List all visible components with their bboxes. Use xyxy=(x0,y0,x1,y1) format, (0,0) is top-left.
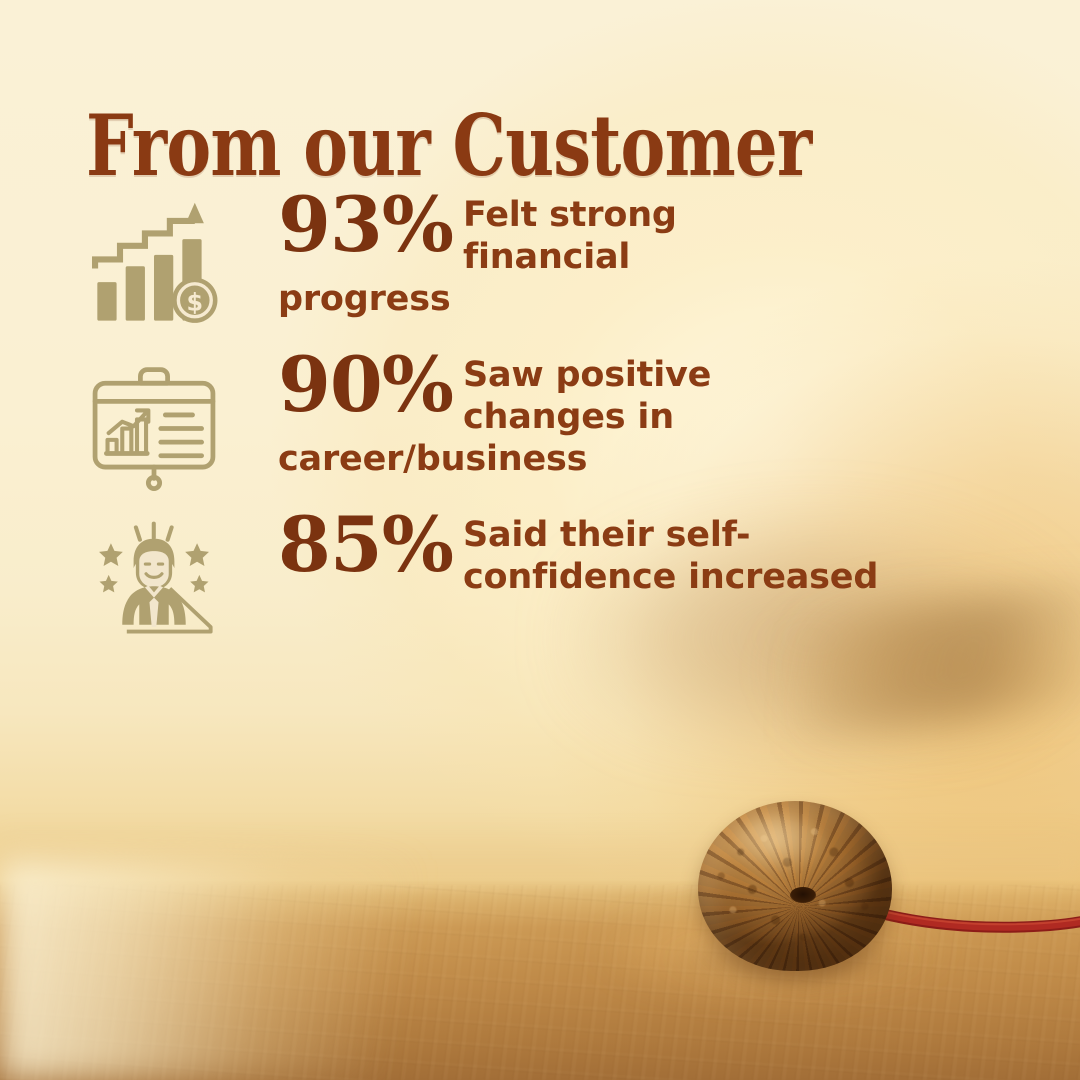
stats-list: $ 93% Felt strong financial progress xyxy=(0,188,1080,668)
stat-text-block: 93% Felt strong financial progress xyxy=(278,188,812,320)
stat-text-block: 85% Said their self-confidence increased xyxy=(278,508,930,598)
poster-content: From our Customer xyxy=(0,0,1080,1080)
bar-chart-growth-dollar-icon: $ xyxy=(86,196,222,332)
stat-text-block: 90% Saw positive changes in career/busin… xyxy=(278,348,884,480)
svg-text:$: $ xyxy=(187,288,204,316)
presentation-board-chart-icon xyxy=(86,356,222,492)
page-title: From our Customer xyxy=(86,104,811,188)
confident-person-stars-icon xyxy=(86,516,222,652)
testimonial-stats-poster: From our Customer xyxy=(0,0,1080,1080)
stat-row: 85% Said their self-confidence increased xyxy=(0,508,1080,668)
stat-percent: 85% xyxy=(278,508,453,582)
